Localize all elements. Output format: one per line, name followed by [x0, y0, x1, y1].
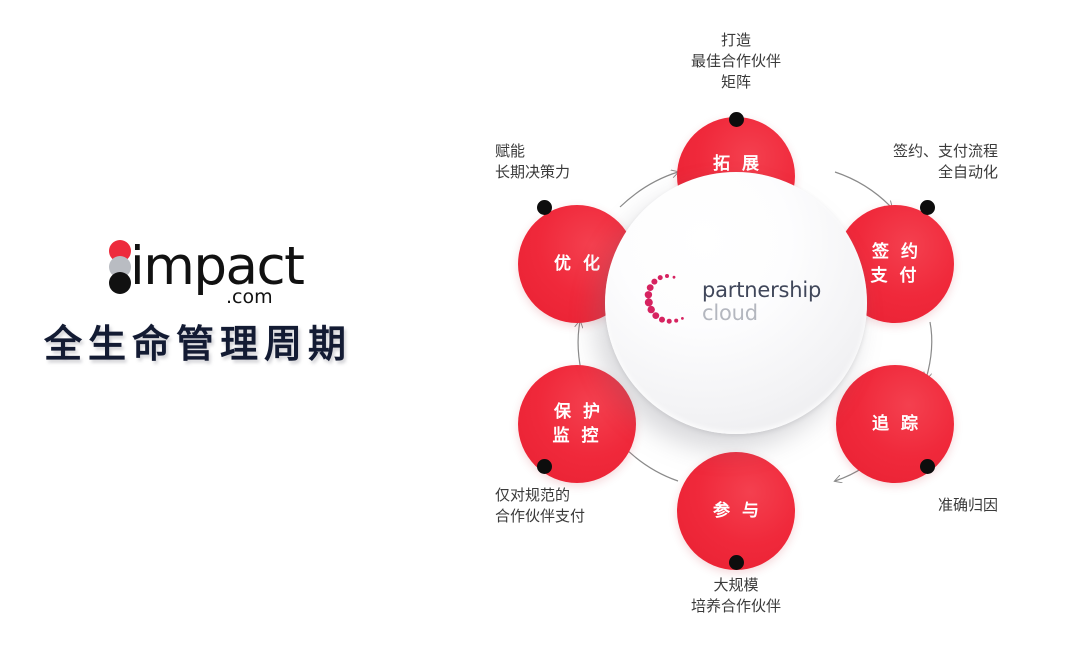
- node-dot-recruit: [729, 112, 744, 127]
- center-partnership-cloud-disc: partnership cloud: [605, 172, 867, 434]
- node-dot-protect-monitor: [537, 459, 552, 474]
- impact-com-logo: impact .com: [108, 238, 308, 300]
- slide-canvas: impact .com 全生命管理周期 拓 展 招 募: [0, 0, 1080, 652]
- stage-bubble-label: 签 约 支 付: [869, 240, 921, 288]
- cloud-text: cloud: [702, 302, 821, 325]
- caption-track: 准确归因: [840, 495, 998, 516]
- node-dot-engage: [729, 555, 744, 570]
- dot-arc-icon: [641, 270, 707, 336]
- caption-engage: 大规模 培养合作伙伴: [636, 575, 836, 617]
- stage-bubble-label: 保 护 监 控: [551, 400, 603, 448]
- page-title: 全生命管理周期: [44, 313, 352, 368]
- impact-dotcom-suffix: .com: [226, 286, 273, 308]
- node-dot-track: [920, 459, 935, 474]
- stage-bubble-label: 追 踪: [869, 412, 921, 436]
- impact-wordmark: impact: [130, 238, 303, 296]
- stage-bubble-engage[interactable]: 参 与: [677, 452, 795, 570]
- partnership-cloud-logo: partnership cloud: [641, 270, 831, 336]
- caption-recruit: 打造 最佳合作伙伴 矩阵: [636, 30, 836, 93]
- stage-bubble-label: 优 化: [551, 252, 603, 276]
- brand-panel: impact .com 全生命管理周期: [0, 0, 450, 652]
- node-dot-optimize: [537, 200, 552, 215]
- caption-protect-monitor: 仅对规范的 合作伙伴支付: [495, 485, 670, 527]
- stage-bubble-protect-monitor[interactable]: 保 护 监 控: [518, 365, 636, 483]
- logo-dot-black: [109, 272, 131, 294]
- node-dot-contract-pay: [920, 200, 935, 215]
- caption-contract-pay: 签约、支付流程 全自动化: [830, 141, 998, 183]
- arrow-contract-to-track: [926, 322, 932, 379]
- partnership-cloud-wordmark: partnership cloud: [702, 279, 821, 325]
- partnership-text: partnership: [702, 279, 821, 302]
- lifecycle-wheel-diagram: 拓 展 招 募 签 约 支 付 追 踪 参 与 保 护 监 控 优 化: [450, 0, 1080, 652]
- caption-optimize: 赋能 长期决策力: [495, 141, 670, 183]
- stage-bubble-label: 参 与: [710, 499, 762, 523]
- stage-bubble-track[interactable]: 追 踪: [836, 365, 954, 483]
